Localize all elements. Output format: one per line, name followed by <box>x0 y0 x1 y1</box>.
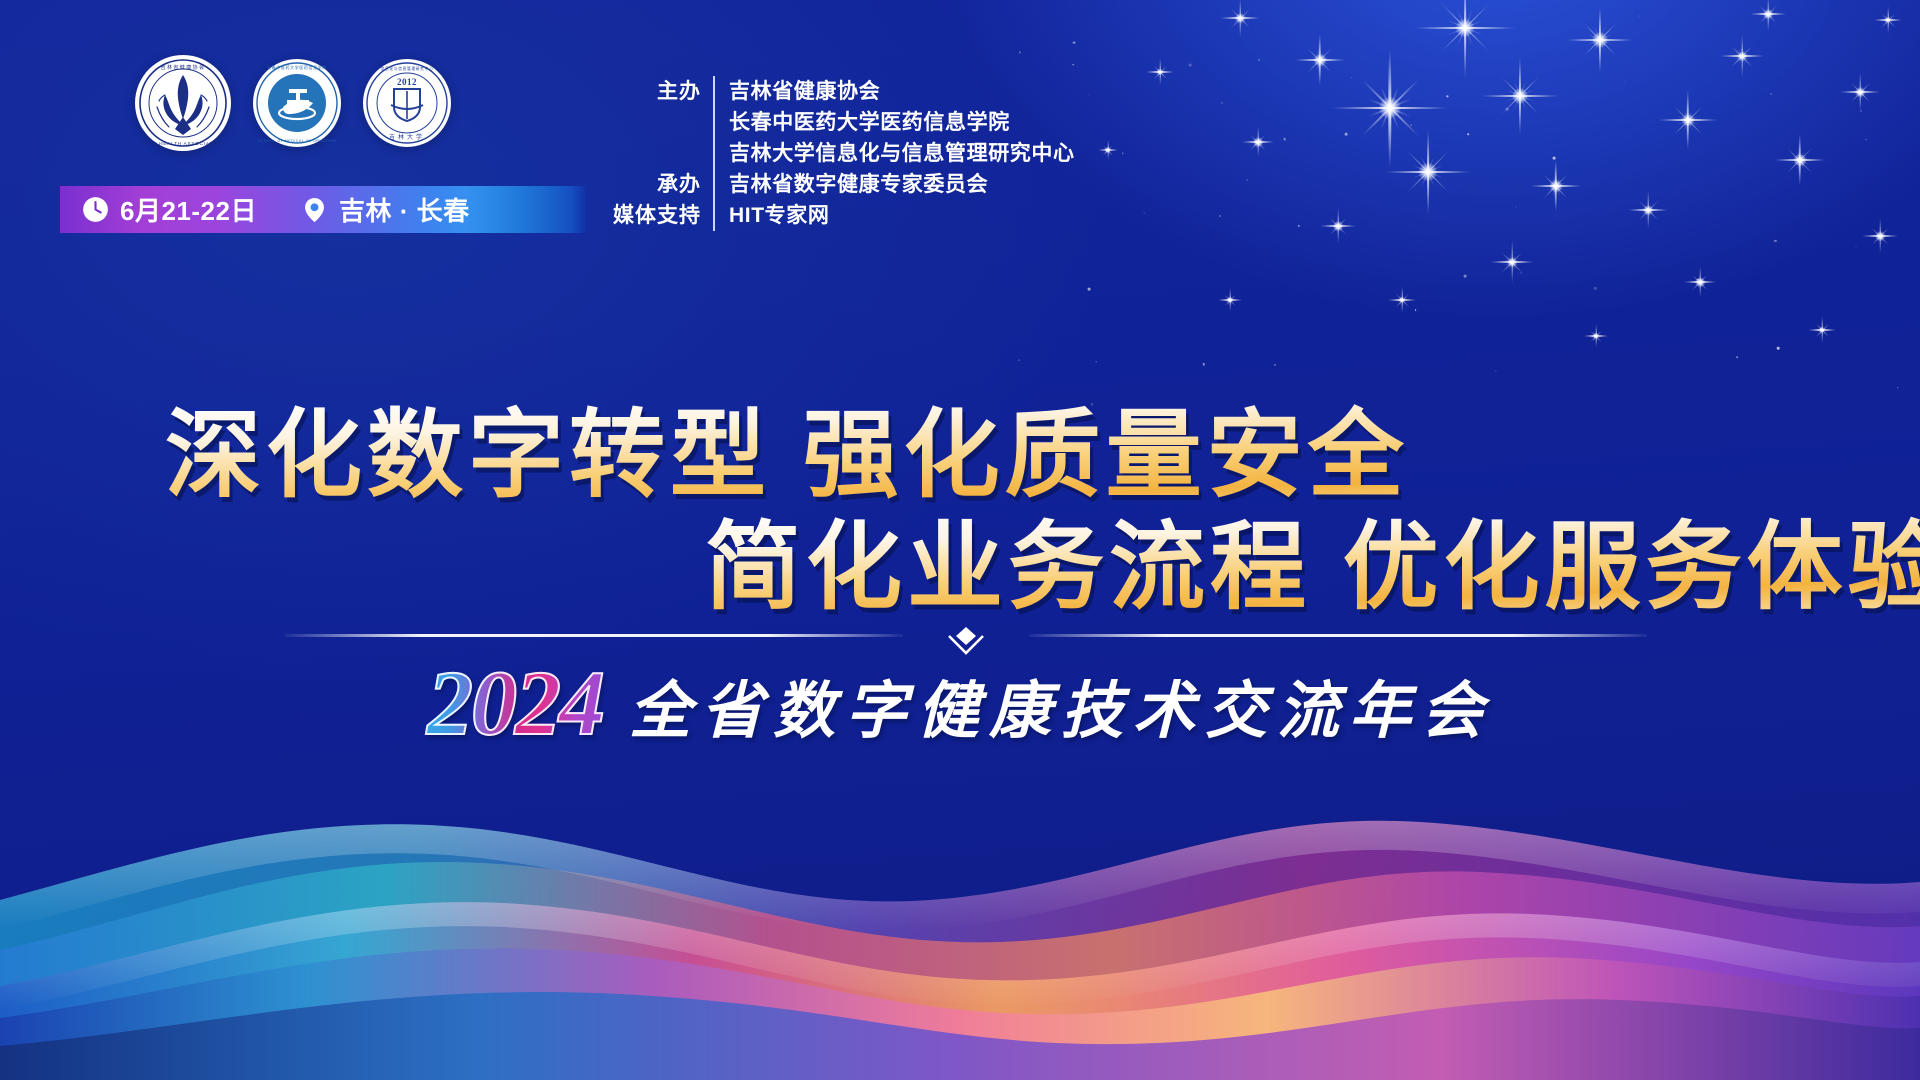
svg-text:JILIN HEALTH ASSOCIATION: JILIN HEALTH ASSOCIATION <box>142 141 223 146</box>
organizer-name: 吉林大学信息化与信息管理研究中心 <box>729 138 1075 169</box>
svg-text:吉林省健康协会: 吉林省健康协会 <box>161 64 206 71</box>
svg-text:信息化与信息管理研究中心: 信息化与信息管理研究中心 <box>381 66 434 71</box>
event-date: 6月21-22日 <box>82 191 257 228</box>
clock-icon <box>82 196 109 223</box>
organizer-name: HIT专家网 <box>729 200 829 231</box>
headline-line-2: 简化业务流程 优化服务体验 <box>705 512 1920 624</box>
organizer-name: 吉林省健康协会 <box>729 76 1075 107</box>
jilin-health-association-logo: 吉林省健康协会 JILIN HEALTH ASSOCIATION <box>135 55 231 151</box>
organizer-label-media: 媒体支持 <box>605 200 713 231</box>
organizer-names-media: HIT专家网 <box>713 200 829 231</box>
headline-line-1: 深化数字转型 强化质量安全 <box>165 400 1920 512</box>
map-pin-icon <box>301 196 328 223</box>
organizer-block: 主办 吉林省健康协会 长春中医药大学医药信息学院 吉林大学信息化与信息管理研究中… <box>605 76 1075 231</box>
organizer-names-host: 吉林省健康协会 长春中医药大学医药信息学院 吉林大学信息化与信息管理研究中心 <box>713 76 1075 169</box>
divider-line-left <box>285 634 903 637</box>
organizer-name: 吉林省数字健康专家委员会 <box>729 169 988 200</box>
event-location-text: 吉林 · 长春 <box>339 191 470 228</box>
svg-text:吉林大学: 吉林大学 <box>389 133 425 141</box>
wave-decoration <box>0 650 1920 1080</box>
organizer-label-coorganizer: 承办 <box>605 169 713 200</box>
organizer-names-coorganizer: 吉林省数字健康专家委员会 <box>713 169 988 200</box>
organizer-label-host: 主办 <box>605 76 713 107</box>
conference-banner: 吉林省健康协会 JILIN HEALTH ASSOCIATION 长春中医药大学… <box>0 0 1920 1080</box>
event-location: 吉林 · 长春 <box>301 191 470 228</box>
organizer-name: 长春中医药大学医药信息学院 <box>729 107 1075 138</box>
jilin-university-informatization-research-center-logo: 2012 信息化与信息管理研究中心 吉林大学 <box>363 59 451 147</box>
svg-text:SCHOOL OF MEDICAL INFORMATION: SCHOOL OF MEDICAL INFORMATION <box>258 139 336 143</box>
divider-line-right <box>1029 634 1647 637</box>
svg-text:长春中医药大学医药信息学院: 长春中医药大学医药信息学院 <box>267 64 327 70</box>
changchun-tcm-medical-information-college-logo: 长春中医药大学医药信息学院 SCHOOL OF MEDICAL INFORMAT… <box>253 59 341 147</box>
headline-block: 深化数字转型 强化质量安全 简化业务流程 优化服务体验 <box>0 400 1920 624</box>
date-location-bar: 6月21-22日 吉林 · 长春 <box>60 186 585 233</box>
svg-text:2012: 2012 <box>397 77 417 87</box>
logo-row: 吉林省健康协会 JILIN HEALTH ASSOCIATION 长春中医药大学… <box>135 55 451 151</box>
event-date-text: 6月21-22日 <box>120 191 257 228</box>
